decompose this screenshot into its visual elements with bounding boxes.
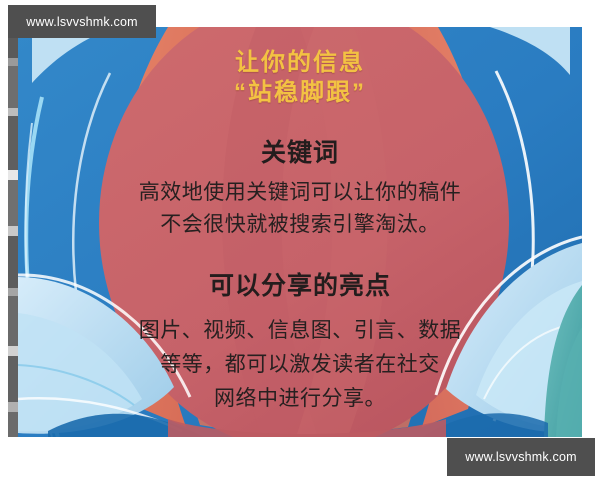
watermark-bottom-right: www.lsvvshmk.com	[447, 438, 595, 476]
left-border-strip	[8, 30, 18, 437]
slide-image	[18, 27, 582, 437]
watermark-top-left: www.lsvvshmk.com	[8, 5, 156, 38]
background-artwork	[18, 27, 582, 437]
